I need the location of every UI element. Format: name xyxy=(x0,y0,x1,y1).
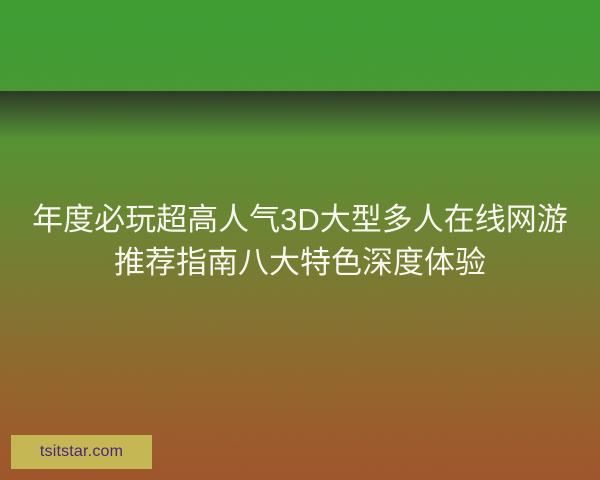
banner-canvas: 年度必玩超高人气3D大型多人在线网游 推荐指南八大特色深度体验 tsitstar… xyxy=(0,0,600,480)
watermark-label: tsitstar.com xyxy=(40,444,123,460)
watermark-badge: tsitstar.com xyxy=(11,435,152,469)
page-title-line-2: 推荐指南八大特色深度体验 xyxy=(0,241,600,284)
page-title: 年度必玩超高人气3D大型多人在线网游 推荐指南八大特色深度体验 xyxy=(0,198,600,284)
page-title-line-1: 年度必玩超高人气3D大型多人在线网游 xyxy=(0,198,600,241)
